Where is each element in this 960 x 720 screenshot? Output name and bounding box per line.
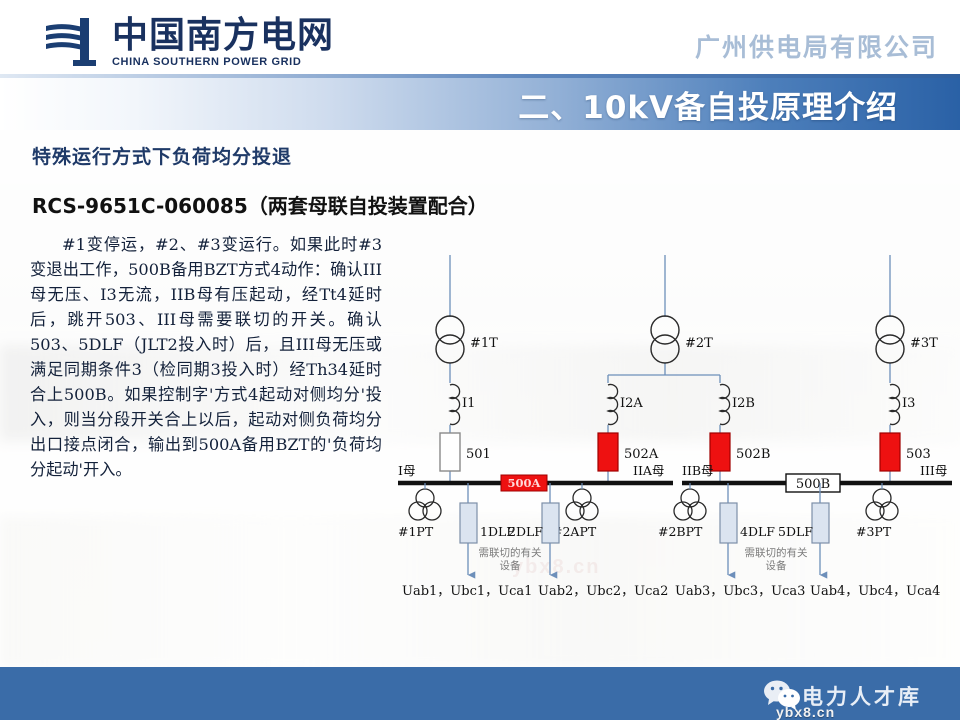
breaker-503 (880, 433, 900, 471)
transformer-label-1T: #1T (470, 336, 498, 351)
section-subtitle: 特殊运行方式下负荷均分投退 (32, 142, 292, 169)
feeder-label-4DLF: 4DLF (740, 524, 775, 539)
voltage-label-4: Uab4，Ubc4，Uca4 (810, 584, 940, 599)
ct-label-I3: I3 (902, 396, 915, 411)
ct-symbol-I3 (890, 385, 900, 425)
note-left-line2: 设备 (500, 559, 521, 572)
feeder-breaker-5DLF (812, 503, 829, 543)
note-right-line2: 设备 (766, 559, 787, 572)
slide-header: 中国南方电网 CHINA SOUTHERN POWER GRID 广州供电局有限… (0, 0, 960, 76)
note-right-line1: 需联切的有关 (745, 546, 808, 559)
pt-label-3PT: #3PT (856, 524, 892, 539)
section-title-bar: 二、10kV备自投原理介绍 (0, 78, 960, 130)
pt-symbol-2BPT (674, 489, 706, 520)
bus-label-IIA: IIA母 (633, 463, 664, 478)
ct-label-I1: I1 (462, 396, 475, 411)
voltage-label-2: Uab2，Ubc2，Uca2 (538, 584, 668, 599)
breaker-label-502A: 502A (624, 447, 659, 462)
company-name: 广州供电局有限公司 (695, 28, 938, 64)
body-paragraph: #1变停运，#2、#3变运行。如果此时#3变退出工作，500B备用BZT方式4动… (30, 232, 382, 482)
pt-symbol-1PT (409, 489, 441, 520)
transformer-symbol-2T (651, 316, 679, 363)
pt-label-1PT: #1PT (398, 524, 434, 539)
bus-label-III: III母 (920, 463, 947, 478)
breaker-502A (598, 433, 618, 471)
csg-logo-cn: 中国南方电网 (112, 17, 334, 55)
ct-symbol-I2A (608, 385, 618, 425)
pt-symbol-2APT (566, 489, 598, 520)
csg-logo: 中国南方电网 CHINA SOUTHERN POWER GRID (44, 16, 334, 68)
feeder-breaker-2DLF (542, 503, 559, 543)
breaker-label-502B: 502B (736, 447, 770, 462)
bus-label-I: I母 (398, 463, 415, 478)
page-title: 二、10kV备自投原理介绍 (518, 82, 960, 127)
ct-symbol-I1 (450, 385, 460, 425)
feeder-breaker-4DLF (720, 503, 737, 543)
breaker-501 (440, 433, 460, 471)
csg-logo-mark-icon (44, 16, 104, 68)
ct-label-I2A: I2A (620, 396, 643, 411)
transformer-label-3T: #3T (910, 336, 938, 351)
bus-label-IIB: IIB母 (682, 463, 714, 478)
csg-logo-en: CHINA SOUTHERN POWER GRID (112, 56, 334, 68)
voltage-label-3: Uab3，Ubc3，Uca3 (675, 584, 805, 599)
transformer-symbol-3T (876, 316, 904, 363)
voltage-label-1: Uab1，Ubc1，Uca1 (402, 584, 532, 599)
pt-symbol-3PT (866, 489, 898, 520)
transformer-symbol-1T (436, 316, 464, 363)
transformer-label-2T: #2T (685, 336, 713, 351)
breaker-label-503: 503 (906, 447, 931, 462)
note-left-line1: 需联切的有关 (479, 546, 542, 559)
tie-breaker-label-500B: 500B (796, 477, 830, 492)
device-model-line: RCS-9651C-060085（两套母联自投装置配合） (32, 190, 488, 219)
pt-label-2BPT: #2BPT (658, 524, 703, 539)
breaker-label-501: 501 (466, 447, 491, 462)
ct-label-I2B: I2B (732, 396, 755, 411)
feeder-breaker-1DLF (460, 503, 477, 543)
single-line-diagram: #1T #2T #3T I1 I2A I2B I3 501 502A 502B … (390, 255, 960, 605)
ct-symbol-I2B (720, 385, 730, 425)
tie-breaker-label-500A: 500A (508, 476, 542, 490)
footer-watermark: ybx8.cn (776, 704, 835, 720)
feeder-label-5DLF: 5DLF (778, 524, 813, 539)
feeder-label-2DLF: 2DLF (508, 524, 543, 539)
